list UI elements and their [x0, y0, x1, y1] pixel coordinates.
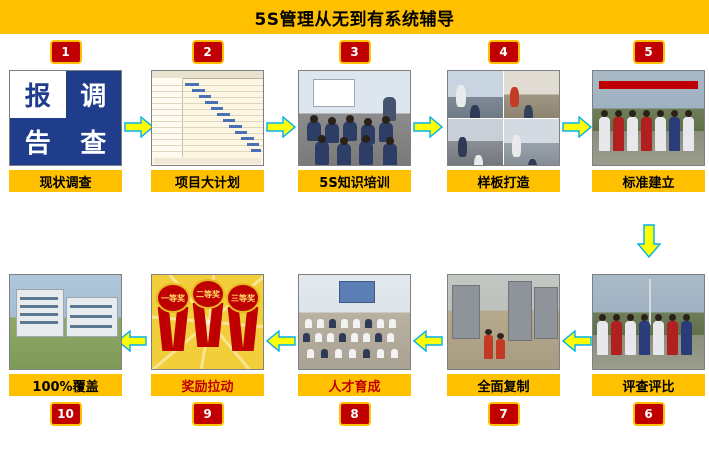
arrow-right-icon-4 — [562, 116, 592, 138]
team-lineup-flagpole-art — [593, 275, 704, 369]
award-ribbon-2-label: 二等奖 — [193, 281, 223, 307]
step-8-badge: 8 — [339, 402, 371, 426]
step-1-caption: 现状调查 — [9, 170, 122, 192]
page-title-bar: 5S管理从无到有系统辅导 — [0, 0, 709, 34]
auditorium-assembly-art — [299, 275, 410, 369]
arrow-left-icon-2 — [413, 330, 443, 352]
step-5-image — [592, 70, 705, 166]
step-5-badge: 5 — [633, 40, 665, 64]
step-5-caption: 标准建立 — [592, 170, 705, 192]
page-title: 5S管理从无到有系统辅导 — [254, 5, 454, 30]
step-7-badge: 7 — [488, 402, 520, 426]
step-4-badge: 4 — [488, 40, 520, 64]
step-1[interactable]: 1 报调告查 现状调查 — [9, 40, 122, 192]
step-9-badge: 9 — [192, 402, 224, 426]
award-ribbon-3-label: 三等奖 — [228, 285, 258, 311]
step-4-image — [447, 70, 560, 166]
step-9-caption: 奖励拉动 — [151, 374, 264, 396]
award-ribbons-art: 一等奖 二等奖 三等奖 — [152, 275, 263, 369]
step-6-caption: 评查评比 — [592, 374, 705, 396]
award-ribbon-1-label: 一等奖 — [158, 285, 188, 311]
step-9-image: 一等奖 二等奖 三等奖 — [151, 274, 264, 370]
step-8-image — [298, 274, 411, 370]
team-lineup-outdoor-art — [593, 71, 704, 165]
step-2[interactable]: 2 项目大计划 — [151, 40, 264, 192]
step-10-badge: 10 — [50, 402, 82, 426]
step-7-caption: 全面复制 — [447, 374, 560, 396]
step-2-badge: 2 — [192, 40, 224, 64]
production-line-art — [448, 275, 559, 369]
step-7-image — [447, 274, 560, 370]
step-5[interactable]: 5 标准建立 — [592, 40, 705, 192]
step-1-image: 报调告查 — [9, 70, 122, 166]
survey-report-cover-art: 报调告查 — [10, 71, 121, 165]
step-8-caption: 人才育成 — [298, 374, 411, 396]
step-6-image — [592, 274, 705, 370]
step-10-image — [9, 274, 122, 370]
arrow-left-icon-3 — [266, 330, 296, 352]
award-ribbon-2: 二等奖 — [193, 281, 223, 347]
step-10-caption: 100%覆盖 — [9, 374, 122, 396]
campus-building-art — [10, 275, 121, 369]
arrow-right-icon-2 — [266, 116, 296, 138]
step-4[interactable]: 4 样板打造 — [447, 40, 560, 192]
step-2-caption: 项目大计划 — [151, 170, 264, 192]
arrow-right-icon-3 — [413, 116, 443, 138]
training-classroom-art — [299, 71, 410, 165]
award-ribbon-3: 三等奖 — [228, 285, 258, 351]
arrow-right-icon-1 — [124, 116, 154, 138]
step-6-badge: 6 — [633, 402, 665, 426]
step-1-badge: 1 — [50, 40, 82, 64]
step-9[interactable]: 一等奖 二等奖 三等奖 奖励拉动 9 — [151, 274, 264, 426]
arrow-left-icon-1 — [562, 330, 592, 352]
step-2-image — [151, 70, 264, 166]
gantt-chart-art — [152, 71, 263, 165]
step-3-image — [298, 70, 411, 166]
step-10[interactable]: 100%覆盖 10 — [9, 274, 122, 426]
step-6[interactable]: 评查评比 6 — [592, 274, 705, 426]
step-7[interactable]: 全面复制 7 — [447, 274, 560, 426]
step-4-caption: 样板打造 — [447, 170, 560, 192]
step-3-badge: 3 — [339, 40, 371, 64]
step-3[interactable]: 3 5S知识培训 — [298, 40, 411, 192]
arrow-down-icon — [637, 224, 661, 258]
step-3-caption: 5S知识培训 — [298, 170, 411, 192]
cleaning-collage-art — [448, 71, 559, 165]
award-ribbon-1: 一等奖 — [158, 285, 188, 351]
step-8[interactable]: 人才育成 8 — [298, 274, 411, 426]
